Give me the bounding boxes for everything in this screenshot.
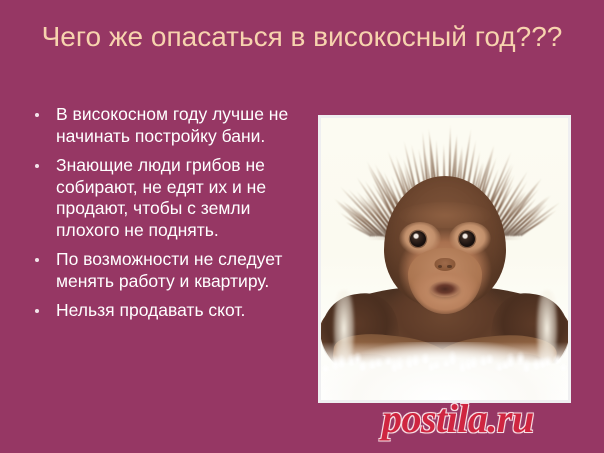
presentation-slide: Чего же опасаться в високосный год??? В … [0,0,604,453]
blanket-fluff [321,362,330,372]
bullet-text: Знающие люди грибов не собирают, не едят… [56,155,266,240]
bullet-dot-icon [35,113,39,117]
bullet-dot-icon [35,164,39,168]
baby-orangutan-photo [321,118,568,400]
list-item: В високосном году лучше не начинать пост… [26,104,311,147]
bullet-dot-icon [35,309,39,313]
blanket-fluff [411,352,420,366]
photo-frame [318,115,571,403]
blanket-fluff [485,352,494,364]
bullet-text: По возможности не следует менять работу … [56,249,282,291]
blanket-fluff [543,354,552,366]
blanket-fluff [522,357,531,372]
orangutan-nose [434,258,455,271]
list-item: Нельзя продавать скот. [26,300,311,322]
list-item: По возможности не следует менять работу … [26,249,311,292]
blanket-fluff [448,348,457,365]
watermark: postila.ru [382,398,582,440]
bullet-dot-icon [35,258,39,262]
blanket-fluff [358,358,367,371]
slide-title: Чего же опасаться в високосный год??? [0,18,604,56]
blanket-fluff [469,354,478,368]
blanket-fluff [559,361,568,371]
blanket-fluff [395,354,404,370]
blanket-fluff [506,350,515,367]
white-blanket [321,342,568,400]
orangutan-mouth [430,281,460,297]
bullet-text: В високосном году лучше не начинать пост… [56,104,288,146]
bullet-text: Нельзя продавать скот. [56,300,245,320]
orangutan-eye-left [410,231,426,247]
orangutan-eye-right [459,231,475,247]
list-item: Знающие люди грибов не собирают, не едят… [26,155,311,241]
bullet-list: В високосном году лучше не начинать пост… [26,104,311,330]
blanket-fluff [432,358,441,369]
blanket-fluff [337,352,346,368]
blanket-fluff [374,356,383,367]
